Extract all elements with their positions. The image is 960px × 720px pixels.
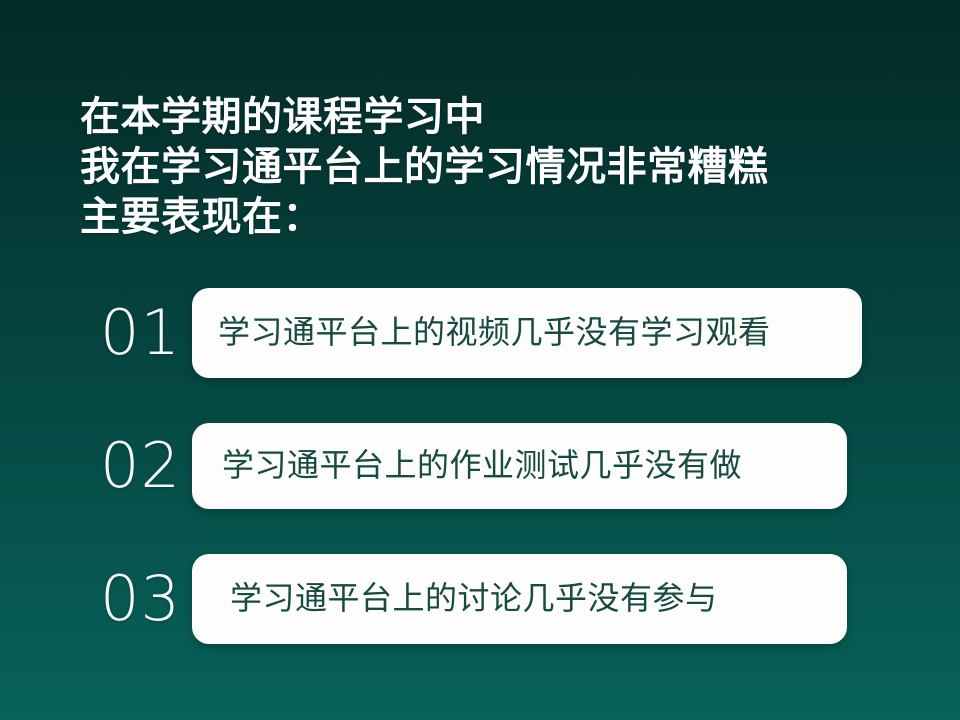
items-list: 01 学习通平台上的视频几乎没有学习观看 02 学习通平台上的作业测试几乎没有做… — [0, 285, 960, 647]
item-card-03[interactable]: 学习通平台上的讨论几乎没有参与 — [192, 554, 847, 644]
heading-line-1: 在本学期的课程学习中 — [80, 92, 910, 142]
slide-canvas: 在本学期的课程学习中 我在学习通平台上的学习情况非常糟糕 主要表现在： 01 学… — [0, 0, 960, 720]
item-card-label-02: 学习通平台上的作业测试几乎没有做 — [222, 448, 742, 483]
heading-line-3: 主要表现在： — [80, 192, 910, 242]
list-item: 01 学习通平台上的视频几乎没有学习观看 — [0, 285, 960, 381]
item-number-02: 02 — [100, 435, 192, 497]
list-item: 03 学习通平台上的讨论几乎没有参与 — [0, 551, 960, 647]
item-number-03: 03 — [100, 568, 192, 630]
item-card-label-03: 学习通平台上的讨论几乎没有参与 — [230, 581, 718, 616]
item-number-01: 01 — [100, 302, 192, 364]
item-card-label-01: 学习通平台上的视频几乎没有学习观看 — [218, 315, 771, 350]
heading-block: 在本学期的课程学习中 我在学习通平台上的学习情况非常糟糕 主要表现在： — [80, 92, 910, 242]
item-card-01[interactable]: 学习通平台上的视频几乎没有学习观看 — [192, 288, 862, 378]
heading-line-2: 我在学习通平台上的学习情况非常糟糕 — [80, 142, 910, 192]
list-item: 02 学习通平台上的作业测试几乎没有做 — [0, 418, 960, 514]
item-card-02[interactable]: 学习通平台上的作业测试几乎没有做 — [192, 423, 847, 509]
